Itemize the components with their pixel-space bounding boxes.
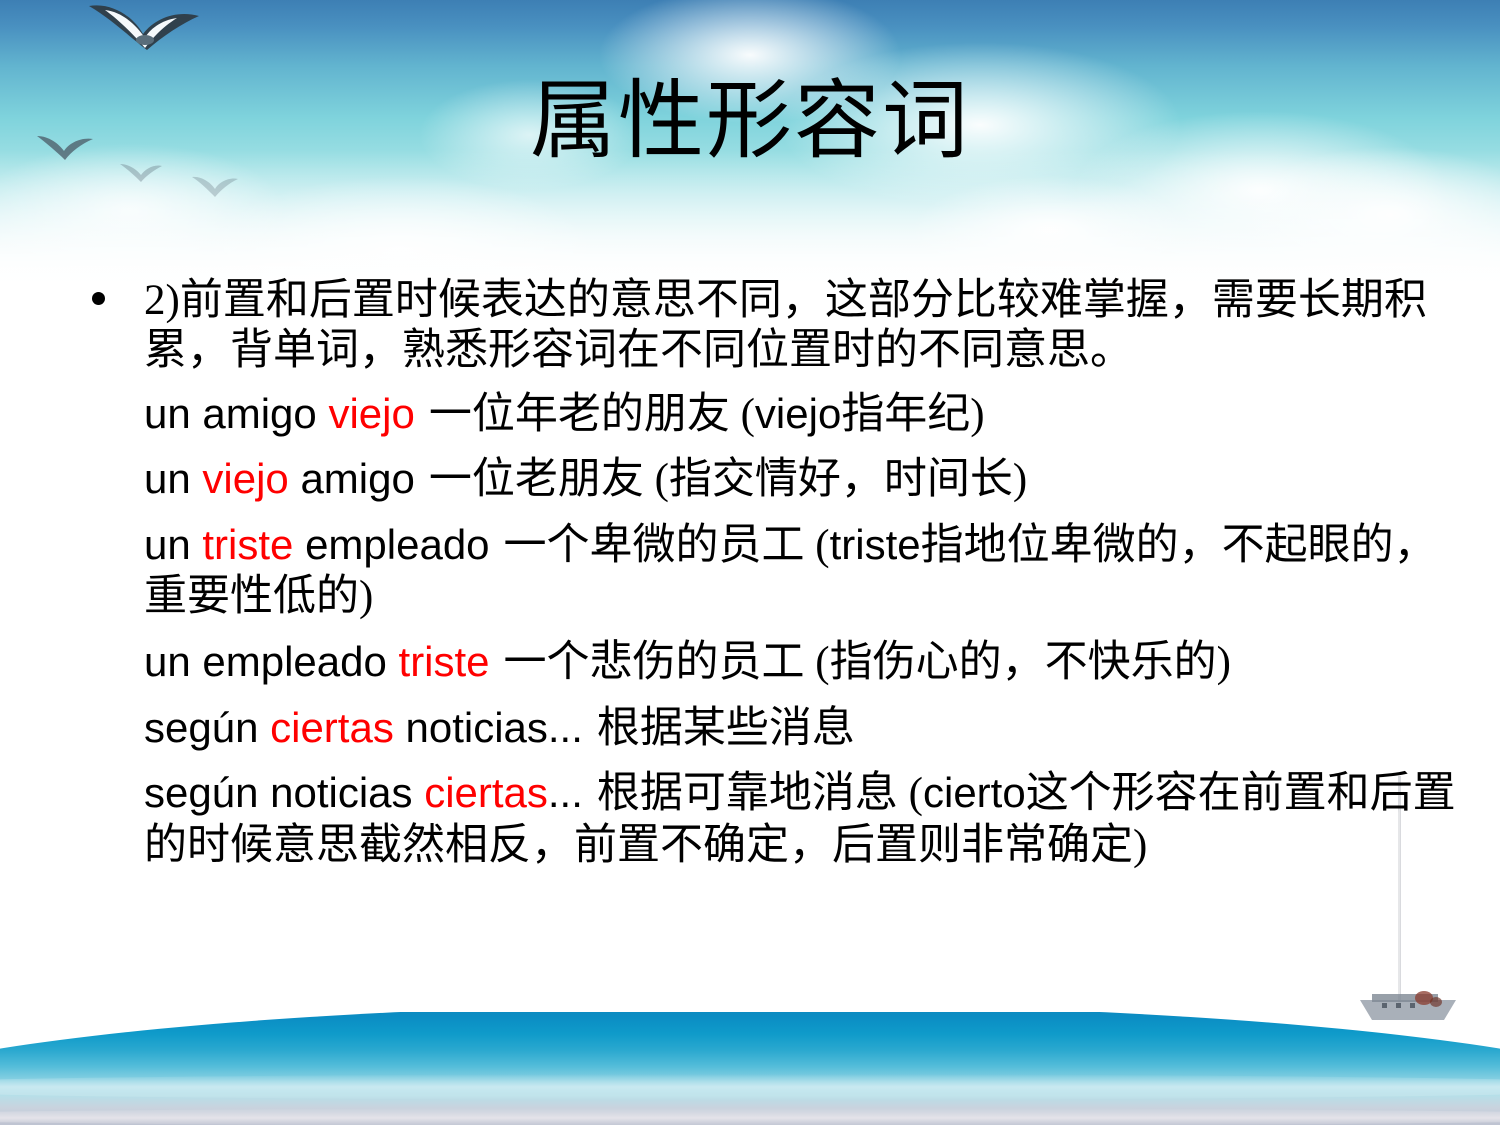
highlight-adjective: viejo	[328, 390, 414, 437]
gloss-text: 一个卑微的员工 (	[504, 522, 830, 569]
slide-canvas: 属性形容词 2)前置和后置时候表达的意思不同，这部分比较难掌握，需要长期积累，背…	[0, 0, 1500, 1125]
gloss-text: 一个悲伤的员工 (指伤心的，不快乐的)	[504, 639, 1231, 686]
list-item: un viejo amigo一位老朋友 (指交情好，时间长)	[144, 454, 1472, 506]
highlight-adjective: ciertas	[424, 769, 548, 816]
ocean-background	[0, 1012, 1500, 1125]
bullet-text: 2)前置和后置时候表达的意思不同，这部分比较难掌握，需要长期积累，背单词，熟悉形…	[144, 277, 1427, 374]
bullet-item: 2)前置和后置时候表达的意思不同，这部分比较难掌握，需要长期积累，背单词，熟悉形…	[72, 276, 1472, 377]
slide-body: 2)前置和后置时候表达的意思不同，这部分比较难掌握，需要长期积累，背单词，熟悉形…	[72, 276, 1472, 885]
latin-after: noticias...	[394, 704, 583, 751]
bullet-dot-icon	[92, 292, 105, 305]
latin-before: un	[144, 455, 202, 502]
example-list: un amigo viejo一位年老的朋友 (viejo指年纪) un viej…	[72, 389, 1472, 872]
gloss-latin: viejo	[755, 390, 841, 437]
list-item: un amigo viejo一位年老的朋友 (viejo指年纪)	[144, 389, 1472, 441]
list-item: según ciertas noticias...根据某些消息	[144, 703, 1472, 755]
gloss-text: 一位老朋友 (指交情好，时间长)	[429, 456, 1027, 503]
latin-after: amigo	[289, 455, 415, 502]
highlight-adjective: viejo	[202, 455, 288, 502]
gloss-text: 根据某些消息	[597, 705, 855, 752]
highlight-adjective: triste	[399, 638, 490, 685]
latin-before: según	[144, 704, 270, 751]
latin-before: un amigo	[144, 390, 328, 437]
highlight-adjective: ciertas	[270, 704, 394, 751]
gloss-tail: 指年纪)	[841, 391, 984, 438]
highlight-adjective: triste	[202, 521, 293, 568]
surf-line	[0, 1074, 1500, 1100]
list-item: un empleado triste一个悲伤的员工 (指伤心的，不快乐的)	[144, 637, 1472, 689]
list-item: un triste empleado一个卑微的员工 (triste指地位卑微的，…	[144, 520, 1472, 623]
gloss-latin: cierto	[923, 769, 1026, 816]
slide-title: 属性形容词	[0, 78, 1500, 164]
gloss-latin: triste	[830, 521, 921, 568]
gloss-text: 根据可靠地消息 (	[597, 770, 923, 817]
latin-after: empleado	[293, 521, 489, 568]
latin-before: según noticias	[144, 769, 424, 816]
latin-before: un empleado	[144, 638, 399, 685]
list-item: según noticias ciertas...根据可靠地消息 (cierto…	[144, 768, 1472, 871]
foam-line	[0, 1108, 1500, 1125]
gloss-text: 一位年老的朋友 (	[429, 391, 755, 438]
latin-before: un	[144, 521, 202, 568]
latin-after: ...	[548, 769, 583, 816]
